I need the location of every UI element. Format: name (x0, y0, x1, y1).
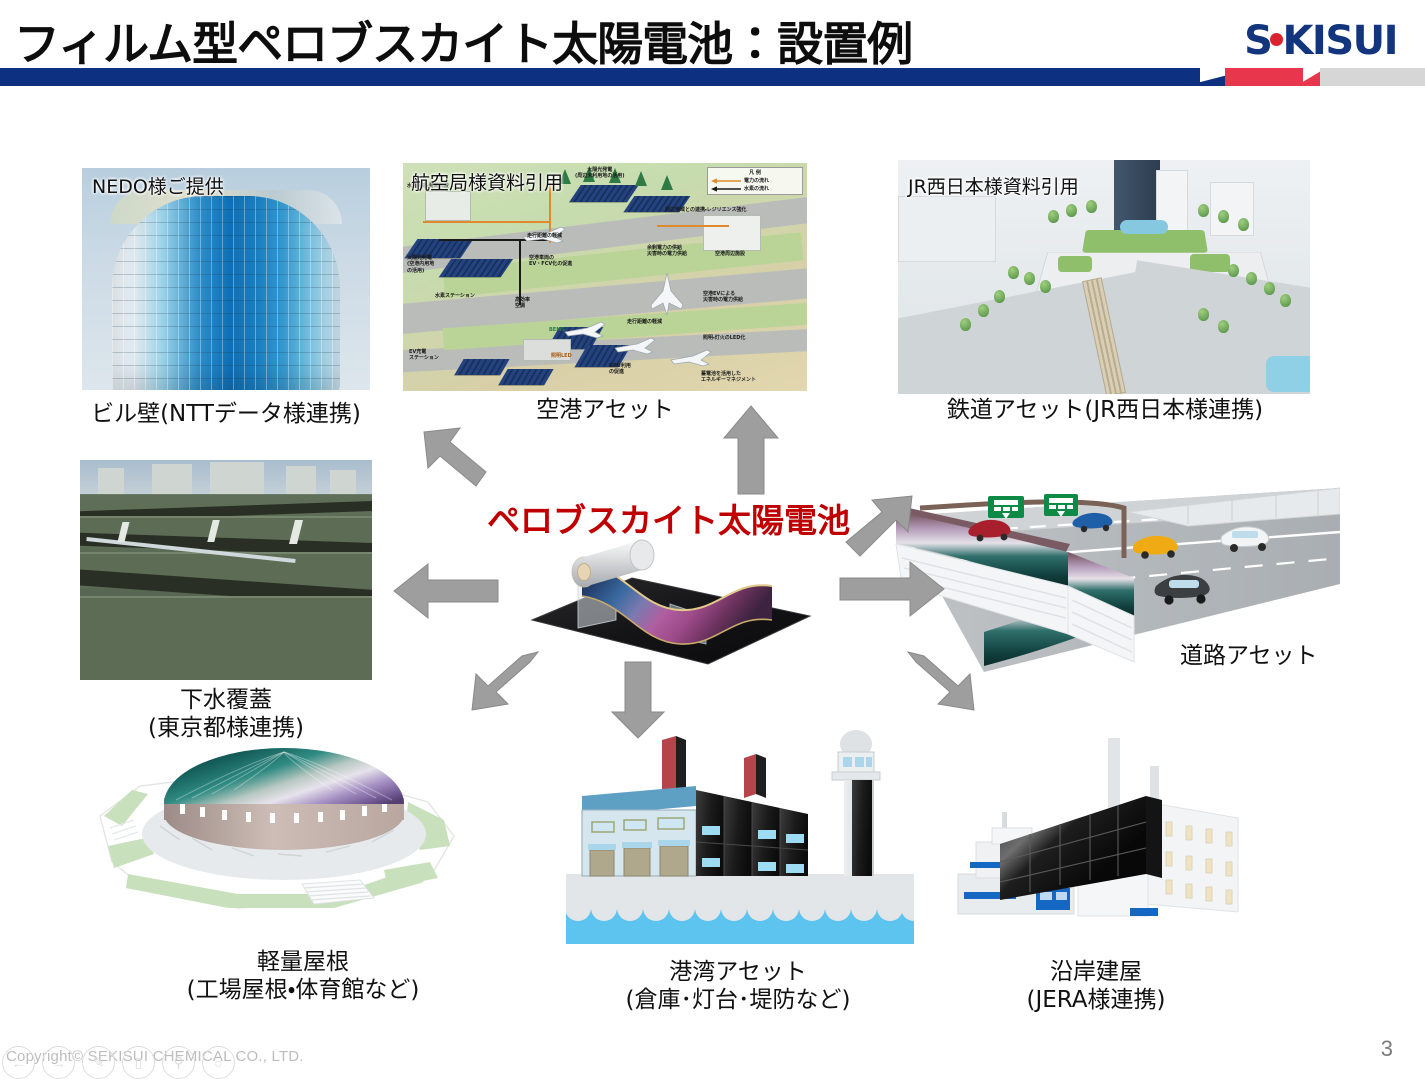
pdf-toolbar[interactable]: ← → ✎ ▯ ⚲ ○ (2, 1046, 235, 1079)
arrow-to-airport (720, 404, 782, 496)
header-rule (0, 68, 1425, 86)
jr-building-left (898, 196, 996, 262)
arrow-to-coastal (900, 648, 986, 728)
sekisui-logo: SKISUI (1244, 18, 1397, 64)
dome-perovskite-roof (164, 748, 404, 804)
airport-pv-array-4 (439, 259, 513, 277)
sewage-caption-line1: 下水覆蓋 (180, 687, 272, 713)
coastal-caption: 沿岸建屋 (JERA様連携) (930, 958, 1262, 1014)
coastal-caption-line1: 沿岸建屋 (1050, 959, 1142, 985)
building-wall-caption: ビル壁(NTTデータ様連携) (0, 400, 452, 428)
road-caption: 道路アセット (1180, 642, 1340, 670)
airport-pv-array-7 (454, 359, 509, 375)
airport-hydrogen-plant (425, 191, 471, 221)
logo-text-left: S (1244, 18, 1271, 64)
search-icon[interactable]: ○ (202, 1046, 235, 1079)
page-title: フィルム型ペロブスカイト太陽電池：設置例 (14, 8, 912, 74)
port-pv-block-2 (724, 796, 752, 876)
airport-plane-4 (669, 347, 713, 369)
airport-source-tag: 航空局様資料引用 (411, 168, 563, 195)
airport-pv-array-8 (498, 369, 553, 385)
slide-root: フィルム型ペロブスカイト太陽電池：設置例 SKISUI NEDO様ご提供 ビル壁… (0, 0, 1425, 1080)
pen-icon[interactable]: ✎ (82, 1046, 115, 1079)
airport-plane-3 (613, 335, 657, 357)
coastal-illustration (940, 722, 1252, 930)
slide-header: フィルム型ペロブスカイト太陽電池：設置例 SKISUI (0, 0, 1425, 88)
jr-roof-pond (1120, 220, 1168, 234)
sewage-cover-photo (80, 460, 372, 680)
sewage-caption-line2: (東京都様連携) (148, 715, 304, 741)
rule-gray-segment (1320, 68, 1425, 86)
airport-plane-2 (563, 319, 607, 341)
perovskite-film-product (520, 524, 820, 669)
arrow-to-railway (838, 490, 916, 564)
port-lighthouse-pv (852, 780, 872, 876)
copy-icon[interactable]: ▯ (122, 1046, 155, 1079)
building-source-tag: NEDO様ご提供 (92, 172, 224, 199)
arrow-to-sewage (392, 562, 500, 620)
airport-diagram: 太陽光発電(周辺未利用地の活用) 水素製造・発電施設 太陽光発電(空港内用地の活… (403, 163, 807, 391)
page-number: 3 (1381, 1036, 1393, 1062)
building-tower (112, 196, 340, 390)
port-caption-line2: (倉庫･灯台･堤防など) (626, 987, 851, 1013)
arrow-to-road (838, 560, 946, 618)
port-caption-line1: 港湾アセット (669, 959, 807, 985)
building-wall-photo (82, 168, 370, 390)
airport-legend: 凡 例 電力の流れ 水素の流れ (707, 167, 803, 195)
railway-source-tag: JR西日本様資料引用 (908, 172, 1079, 199)
rule-navy-segment (0, 68, 1200, 86)
railway-caption: 鉄道アセット(JR西日本様連携) (880, 396, 1330, 424)
highlight-icon[interactable]: ⚲ (162, 1046, 195, 1079)
dome-caption-line2: (工場屋根・体育館など) (187, 977, 420, 1003)
port-caption: 港湾アセット (倉庫･灯台･堤防など) (552, 958, 924, 1014)
port-chimney-2 (744, 754, 756, 798)
jr-roof-garden-1 (1058, 256, 1092, 272)
dome-caption-line1: 軽量屋根 (257, 949, 349, 975)
airport-pv-array-1 (569, 185, 638, 202)
arrow-to-dome (460, 648, 546, 728)
airport-neighbor-buildings (703, 215, 761, 251)
airport-power-line-3 (657, 225, 729, 227)
airport-tree-5 (661, 175, 673, 190)
dome-illustration (88, 742, 518, 952)
logo-text-right: KISUI (1282, 18, 1397, 64)
port-illustration (566, 722, 914, 944)
rule-red-segment (1225, 68, 1303, 86)
coastal-caption-line2: (JERA様連携) (1026, 987, 1165, 1013)
arrow-to-port (608, 660, 668, 740)
airport-plane-5 (649, 271, 685, 317)
legend-hydrogen-arrow-icon (711, 186, 741, 192)
forward-arrow-icon[interactable]: → (42, 1046, 75, 1079)
port-chimney-1 (662, 736, 676, 792)
dome-caption: 軽量屋根 (工場屋根・体育館など) (68, 948, 538, 1004)
back-arrow-icon[interactable]: ← (2, 1046, 35, 1079)
airport-tree-4 (635, 171, 647, 186)
jr-river (1266, 356, 1310, 392)
airport-hydrogen-line-2 (519, 239, 521, 305)
arrow-to-building-wall (420, 424, 498, 498)
sewage-caption: 下水覆蓋 (東京都様連携) (80, 686, 372, 742)
legend-power-arrow-icon (711, 178, 741, 184)
